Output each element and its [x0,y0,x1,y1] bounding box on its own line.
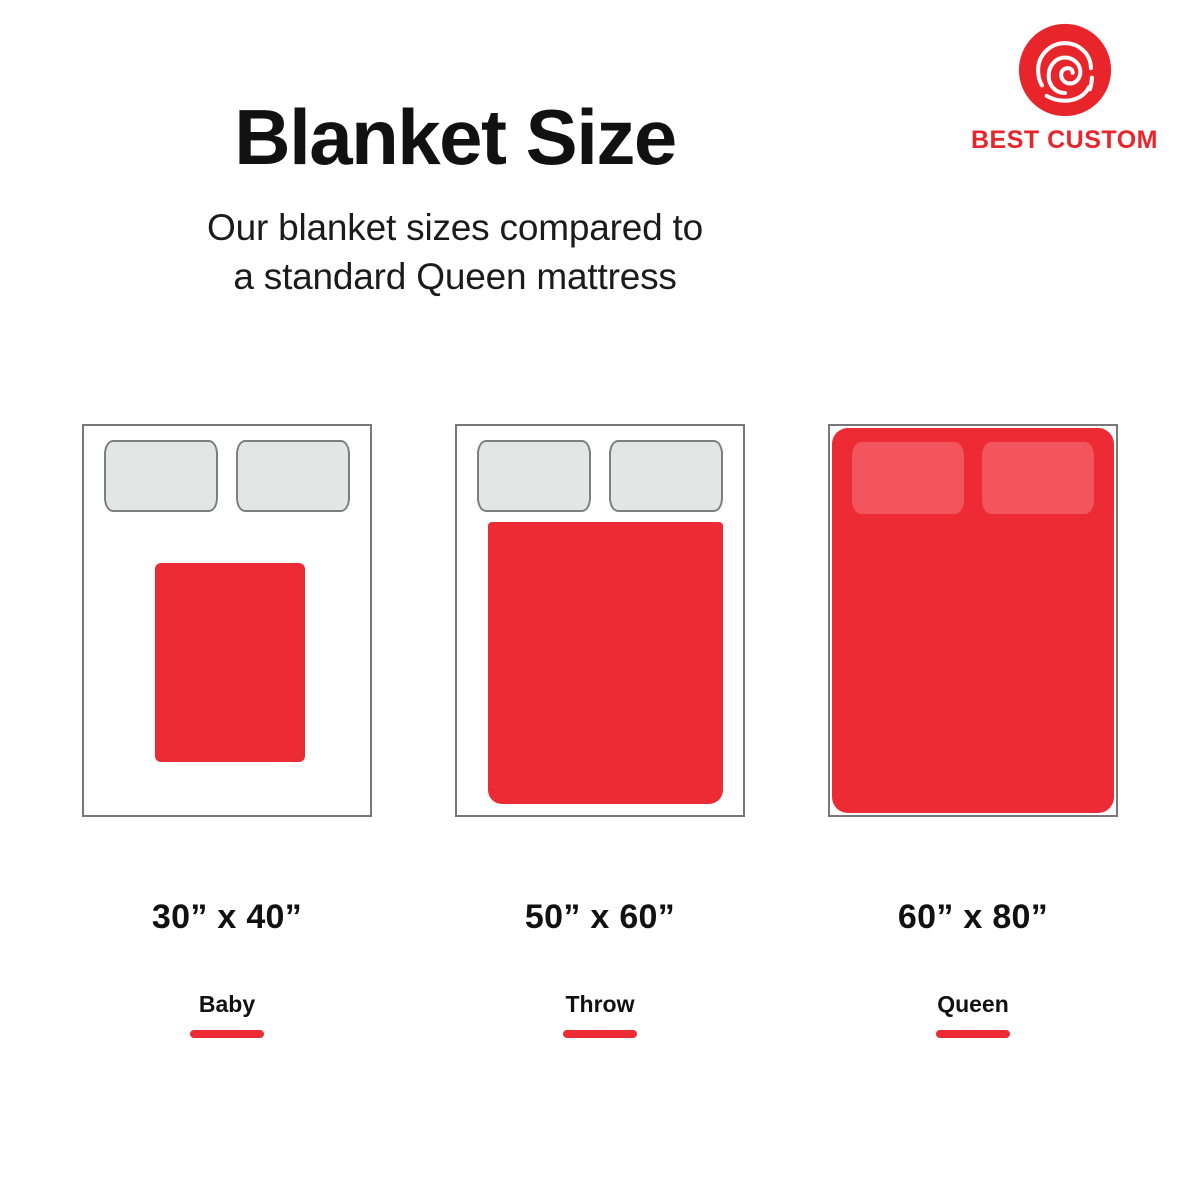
page-subtitle: Our blanket sizes compared to a standard… [0,204,910,302]
brand-logo: BEST CUSTOM [957,22,1172,153]
pillow-right [609,440,723,512]
caption-queen: 60” x 80” Queen [828,900,1118,1038]
blanket-overlay-baby [155,563,305,762]
accent-underline [563,1030,637,1038]
size-name-label: Queen [828,993,1118,1016]
accent-underline [936,1030,1010,1038]
subtitle-line-1: Our blanket sizes compared to [207,207,703,248]
accent-underline [190,1030,264,1038]
caption-row: 30” x 40” Baby 50” x 60” Throw 60” x 80”… [0,900,1200,1050]
caption-throw: 50” x 60” Throw [455,900,745,1038]
dimensions-label: 60” x 80” [828,900,1118,934]
pillow-left [477,440,591,512]
bed-diagram-queen [828,424,1118,817]
bed-diagram-row [0,424,1200,824]
bed-diagram-throw [455,424,745,817]
pillow-right [982,442,1094,514]
blanket-overlay-throw [488,522,723,804]
size-name-label: Baby [82,993,372,1016]
pillow-left [852,442,964,514]
dimensions-label: 30” x 40” [82,900,372,934]
bed-diagram-baby [82,424,372,817]
fingerprint-spiral-icon [1017,22,1113,118]
caption-baby: 30” x 40” Baby [82,900,372,1038]
pillow-left [104,440,218,512]
size-name-label: Throw [455,993,745,1016]
subtitle-line-2: a standard Queen mattress [233,256,676,297]
dimensions-label: 50” x 60” [455,900,745,934]
brand-name: BEST CUSTOM [957,128,1172,153]
pillow-right [236,440,350,512]
page-title: Blanket Size [0,98,910,176]
header: Blanket Size Our blanket sizes compared … [0,98,910,302]
blanket-overlay-queen [832,428,1114,813]
